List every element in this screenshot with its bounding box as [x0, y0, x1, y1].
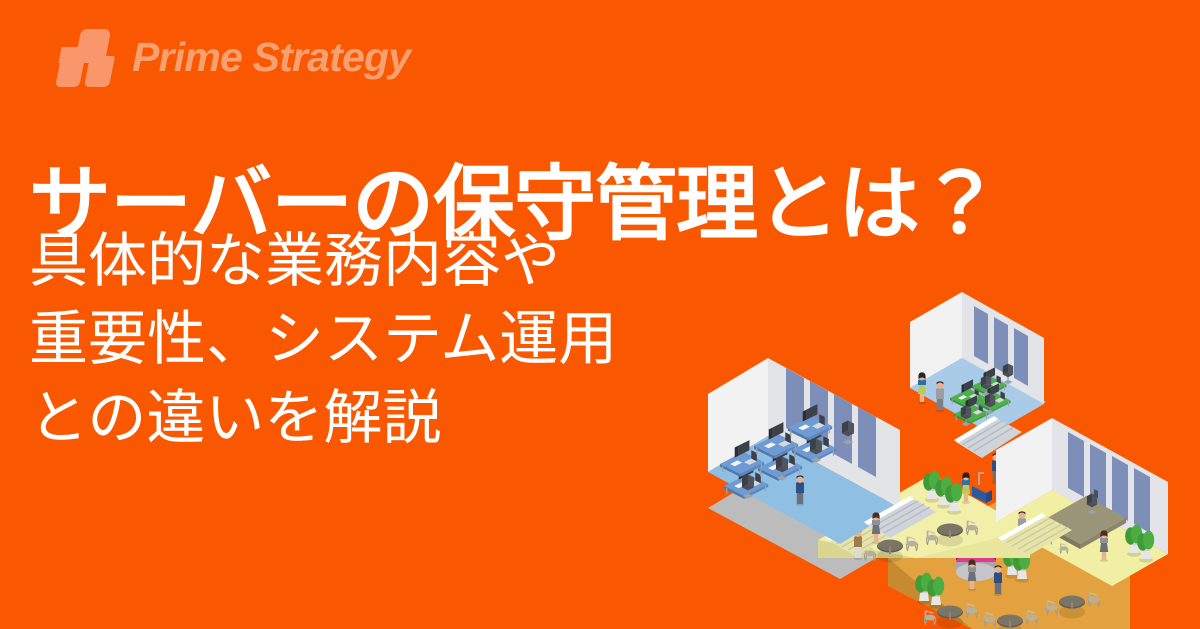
hero-banner: Prime Strategy サーバーの保守管理とは？ 具体的な業務内容や 重要…: [0, 0, 1200, 629]
prime-strategy-blocks-icon: [56, 27, 119, 87]
subtitle-line-1: 具体的な業務内容や: [29, 222, 789, 300]
rolling-suitcase: [972, 473, 992, 503]
room-upper-meeting: [910, 292, 1044, 458]
brand-name: Prime Strategy: [132, 37, 410, 78]
isometric-office-illustration: Information: [700, 272, 1200, 629]
subtitle-line-3: との違いを解説: [29, 379, 789, 457]
brand-logo[interactable]: Prime Strategy: [56, 27, 410, 87]
subtitle-line-2: 重要性、システム運用: [29, 300, 789, 378]
page-subtitle: 具体的な業務内容や 重要性、システム運用 との違いを解説: [29, 222, 789, 457]
